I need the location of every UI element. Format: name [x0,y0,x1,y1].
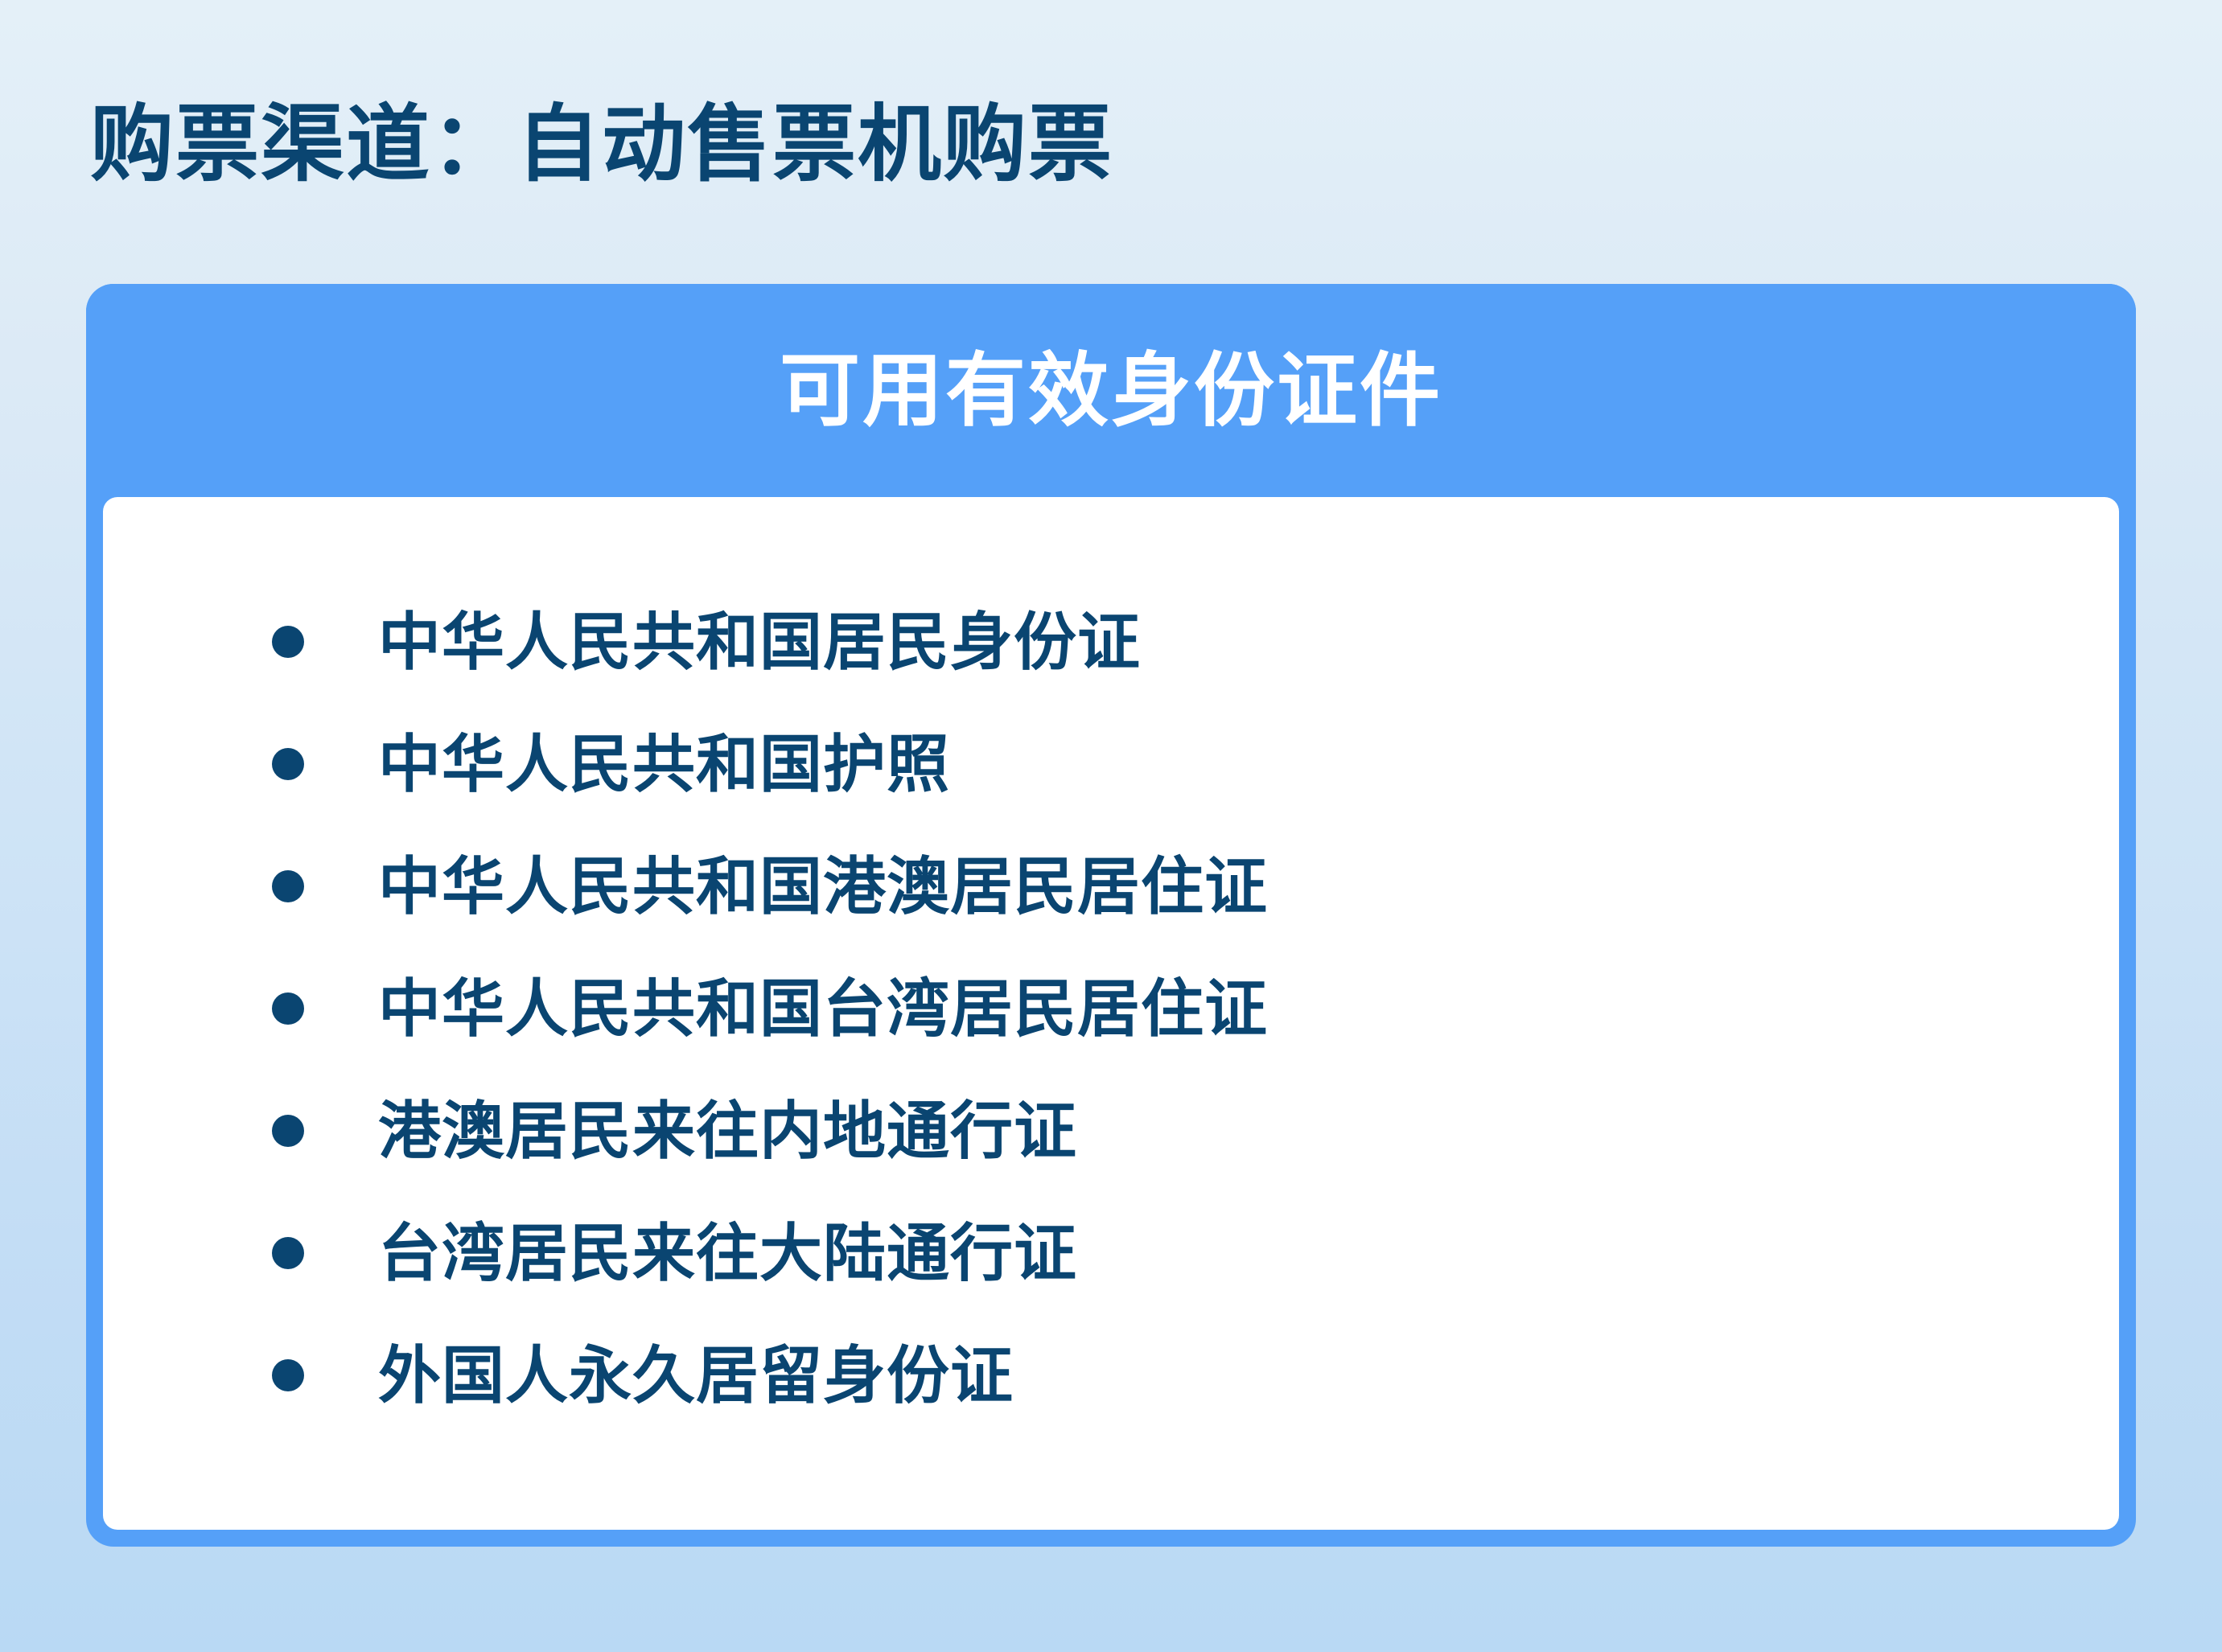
valid-id-documents-card: 可用有效身份证件 中华人民共和国居民身份证中华人民共和国护照中华人民共和国港澳居… [86,284,2136,1547]
list-item-label: 中华人民共和国居民身份证 [378,610,1141,673]
filled-circle-bullet-icon [272,870,304,902]
list-item-label: 港澳居民来往内地通行证 [378,1099,1077,1162]
card-body: 中华人民共和国居民身份证中华人民共和国护照中华人民共和国港澳居民居住证中华人民共… [103,497,2119,1530]
slide-root: 购票渠道：自动售票机购票 可用有效身份证件 中华人民共和国居民身份证中华人民共和… [0,0,2222,1652]
filled-circle-bullet-icon [272,1237,304,1269]
filled-circle-bullet-icon [272,1115,304,1147]
list-item-label: 台湾居民来往大陆通行证 [378,1222,1077,1284]
card-header-title: 可用有效身份证件 [780,351,1442,431]
list-item: 台湾居民来往大陆通行证 [103,1192,2119,1314]
list-item-label: 中华人民共和国台湾居民居住证 [378,977,1268,1040]
list-item: 中华人民共和国港澳居民居住证 [103,825,2119,947]
valid-id-document-list: 中华人民共和国居民身份证中华人民共和国护照中华人民共和国港澳居民居住证中华人民共… [103,581,2119,1436]
card-header: 可用有效身份证件 [86,284,2136,497]
list-item-label: 中华人民共和国港澳居民居住证 [378,855,1268,918]
list-item: 外国人永久居留身份证 [103,1314,2119,1436]
list-item: 中华人民共和国居民身份证 [103,581,2119,703]
page-title: 购票渠道：自动售票机购票 [90,98,1113,191]
list-item-label: 外国人永久居留身份证 [378,1344,1014,1407]
filled-circle-bullet-icon [272,992,304,1025]
list-item: 港澳居民来往内地通行证 [103,1070,2119,1192]
filled-circle-bullet-icon [272,626,304,658]
filled-circle-bullet-icon [272,1359,304,1391]
list-item: 中华人民共和国护照 [103,703,2119,825]
list-item-label: 中华人民共和国护照 [378,733,950,795]
filled-circle-bullet-icon [272,748,304,780]
list-item: 中华人民共和国台湾居民居住证 [103,947,2119,1070]
